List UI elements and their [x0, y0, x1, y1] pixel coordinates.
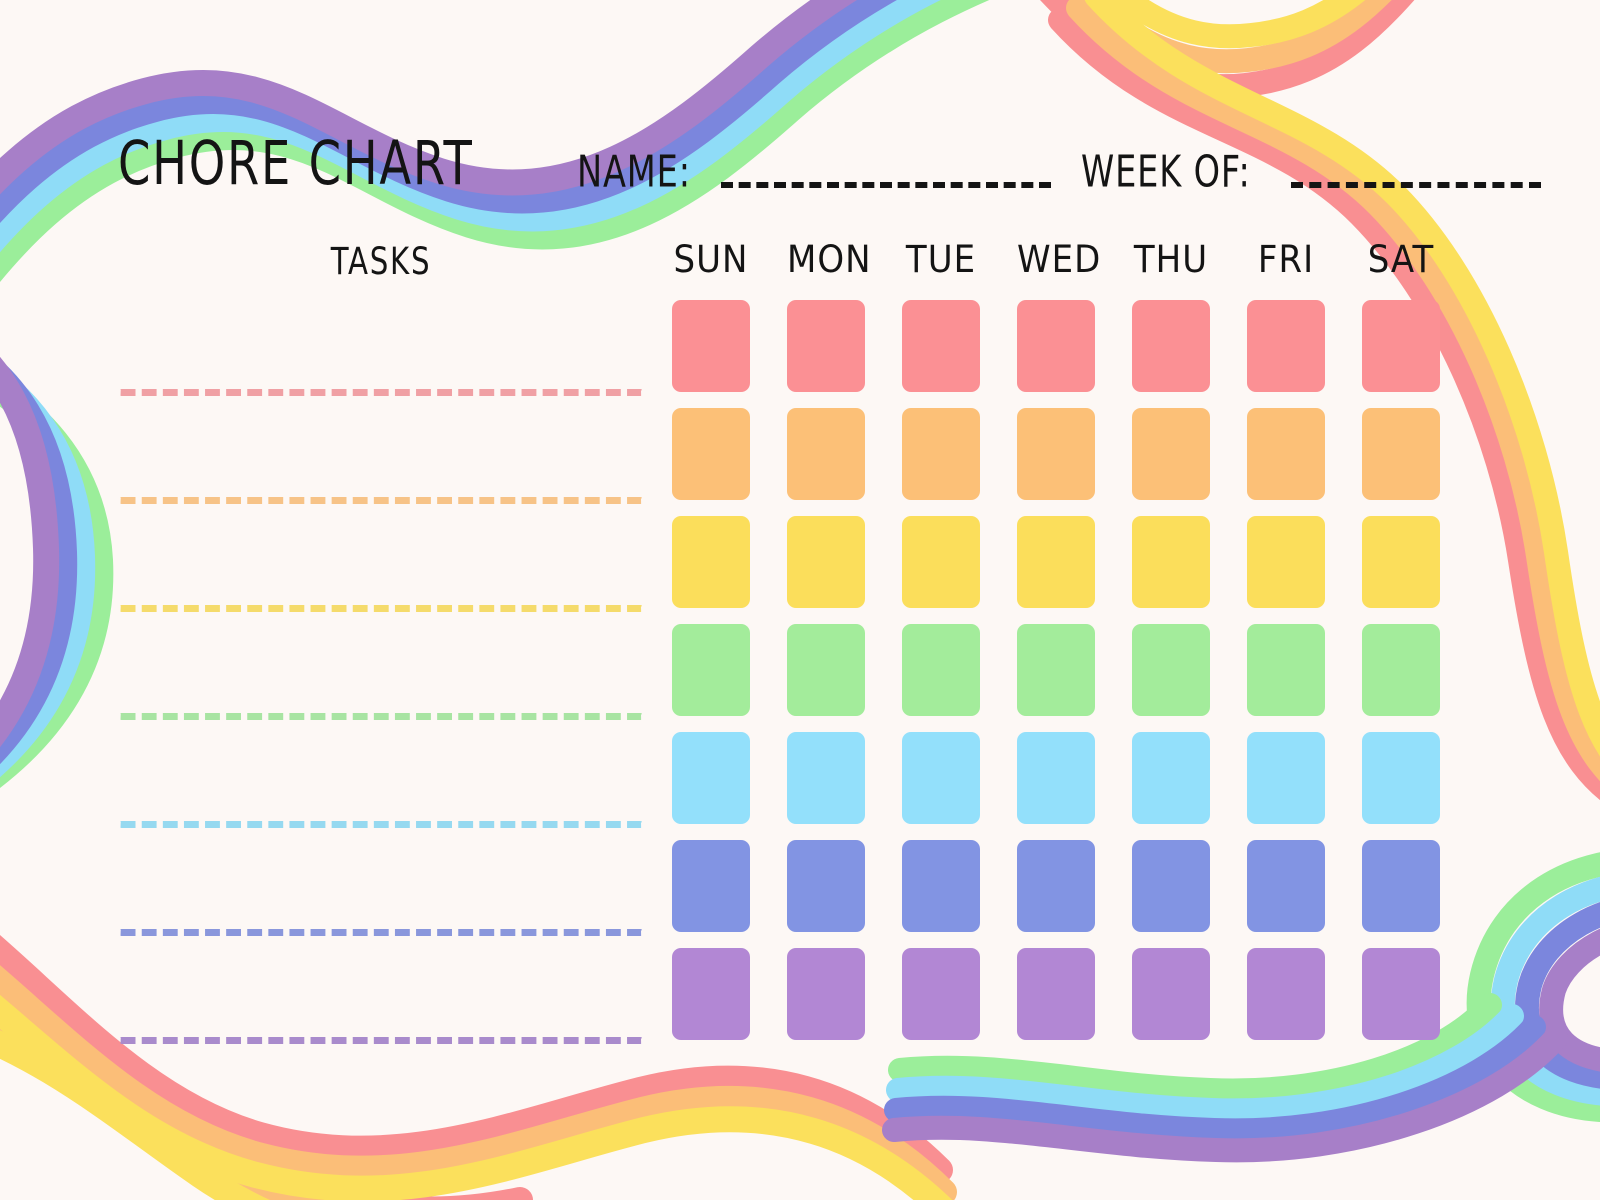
- checkbox-sun[interactable]: [672, 624, 750, 716]
- checkbox-mon[interactable]: [787, 624, 865, 716]
- page-title: CHORE CHART: [118, 134, 474, 194]
- checkbox-thu[interactable]: [1132, 300, 1210, 392]
- checkbox-sun[interactable]: [672, 948, 750, 1040]
- chart-header: CHORE CHART NAME: WEEK OF:: [118, 118, 1458, 194]
- task-write-in-line[interactable]: [118, 821, 644, 828]
- chore-row: [0, 408, 1600, 516]
- checkbox-sat[interactable]: [1362, 624, 1440, 716]
- chore-row: [0, 948, 1600, 1056]
- checkbox-fri[interactable]: [1247, 840, 1325, 932]
- chore-row: [0, 516, 1600, 624]
- tasks-column-heading: TASKS: [155, 240, 607, 284]
- day-header-thu: THU: [1132, 238, 1210, 282]
- checkbox-thu[interactable]: [1132, 732, 1210, 824]
- checkbox-fri[interactable]: [1247, 408, 1325, 500]
- task-write-in-line[interactable]: [118, 389, 644, 396]
- name-write-in-line[interactable]: [721, 182, 1051, 188]
- checkbox-sun[interactable]: [672, 516, 750, 608]
- day-header-fri: FRI: [1247, 238, 1325, 282]
- top-right-warm-ribbon: [1020, 0, 1450, 86]
- checkbox-thu[interactable]: [1132, 408, 1210, 500]
- task-write-in-line[interactable]: [118, 929, 644, 936]
- checkbox-group: [672, 840, 1440, 932]
- checkbox-wed[interactable]: [1017, 948, 1095, 1040]
- checkbox-sat[interactable]: [1362, 948, 1440, 1040]
- checkbox-fri[interactable]: [1247, 624, 1325, 716]
- checkbox-thu[interactable]: [1132, 624, 1210, 716]
- checkbox-sun[interactable]: [672, 840, 750, 932]
- checkbox-mon[interactable]: [787, 948, 865, 1040]
- checkbox-wed[interactable]: [1017, 624, 1095, 716]
- checkbox-sun[interactable]: [672, 408, 750, 500]
- checkbox-tue[interactable]: [902, 948, 980, 1040]
- day-header-wed: WED: [1017, 238, 1095, 282]
- checkbox-wed[interactable]: [1017, 300, 1095, 392]
- day-header-sun: SUN: [672, 238, 750, 282]
- checkbox-mon[interactable]: [787, 732, 865, 824]
- checkbox-wed[interactable]: [1017, 732, 1095, 824]
- task-write-in-line[interactable]: [118, 497, 644, 504]
- checkbox-group: [672, 948, 1440, 1040]
- week-of-write-in-line[interactable]: [1291, 182, 1541, 188]
- checkbox-tue[interactable]: [902, 408, 980, 500]
- task-write-in-line[interactable]: [118, 713, 644, 720]
- checkbox-sat[interactable]: [1362, 732, 1440, 824]
- chore-row: [0, 732, 1600, 840]
- checkbox-thu[interactable]: [1132, 948, 1210, 1040]
- checkbox-group: [672, 624, 1440, 716]
- checkbox-fri[interactable]: [1247, 516, 1325, 608]
- checkbox-sun[interactable]: [672, 300, 750, 392]
- week-of-field[interactable]: WEEK OF:: [1081, 154, 1541, 194]
- week-of-label: WEEK OF:: [1081, 150, 1251, 194]
- checkbox-tue[interactable]: [902, 624, 980, 716]
- checkbox-mon[interactable]: [787, 408, 865, 500]
- checkbox-group: [672, 408, 1440, 500]
- checkbox-group: [672, 300, 1440, 392]
- checkbox-thu[interactable]: [1132, 840, 1210, 932]
- chore-row: [0, 624, 1600, 732]
- day-column-headers: SUNMONTUEWEDTHUFRISAT: [672, 240, 1450, 280]
- task-write-in-line[interactable]: [118, 605, 644, 612]
- checkbox-sun[interactable]: [672, 732, 750, 824]
- chore-row: [0, 300, 1600, 408]
- checkbox-mon[interactable]: [787, 840, 865, 932]
- checkbox-tue[interactable]: [902, 732, 980, 824]
- checkbox-sat[interactable]: [1362, 300, 1440, 392]
- task-write-in-line[interactable]: [118, 1037, 644, 1044]
- checkbox-sat[interactable]: [1362, 840, 1440, 932]
- day-header-sat: SAT: [1362, 238, 1440, 282]
- checkbox-sat[interactable]: [1362, 516, 1440, 608]
- checkbox-fri[interactable]: [1247, 300, 1325, 392]
- checkbox-mon[interactable]: [787, 300, 865, 392]
- chore-row: [0, 840, 1600, 948]
- checkbox-fri[interactable]: [1247, 732, 1325, 824]
- checkbox-group: [672, 732, 1440, 824]
- name-label: NAME:: [577, 150, 691, 194]
- chore-chart-sheet: CHORE CHART NAME: WEEK OF: TASKS SUNMONT…: [0, 0, 1600, 1200]
- day-header-tue: TUE: [902, 238, 980, 282]
- checkbox-wed[interactable]: [1017, 840, 1095, 932]
- checkbox-sat[interactable]: [1362, 408, 1440, 500]
- day-header-mon: MON: [787, 238, 865, 282]
- checkbox-tue[interactable]: [902, 516, 980, 608]
- checkbox-thu[interactable]: [1132, 516, 1210, 608]
- checkbox-fri[interactable]: [1247, 948, 1325, 1040]
- name-field[interactable]: NAME:: [577, 154, 1051, 194]
- checkbox-tue[interactable]: [902, 840, 980, 932]
- chore-grid: [0, 300, 1600, 1056]
- checkbox-group: [672, 516, 1440, 608]
- checkbox-wed[interactable]: [1017, 408, 1095, 500]
- checkbox-tue[interactable]: [902, 300, 980, 392]
- checkbox-mon[interactable]: [787, 516, 865, 608]
- checkbox-wed[interactable]: [1017, 516, 1095, 608]
